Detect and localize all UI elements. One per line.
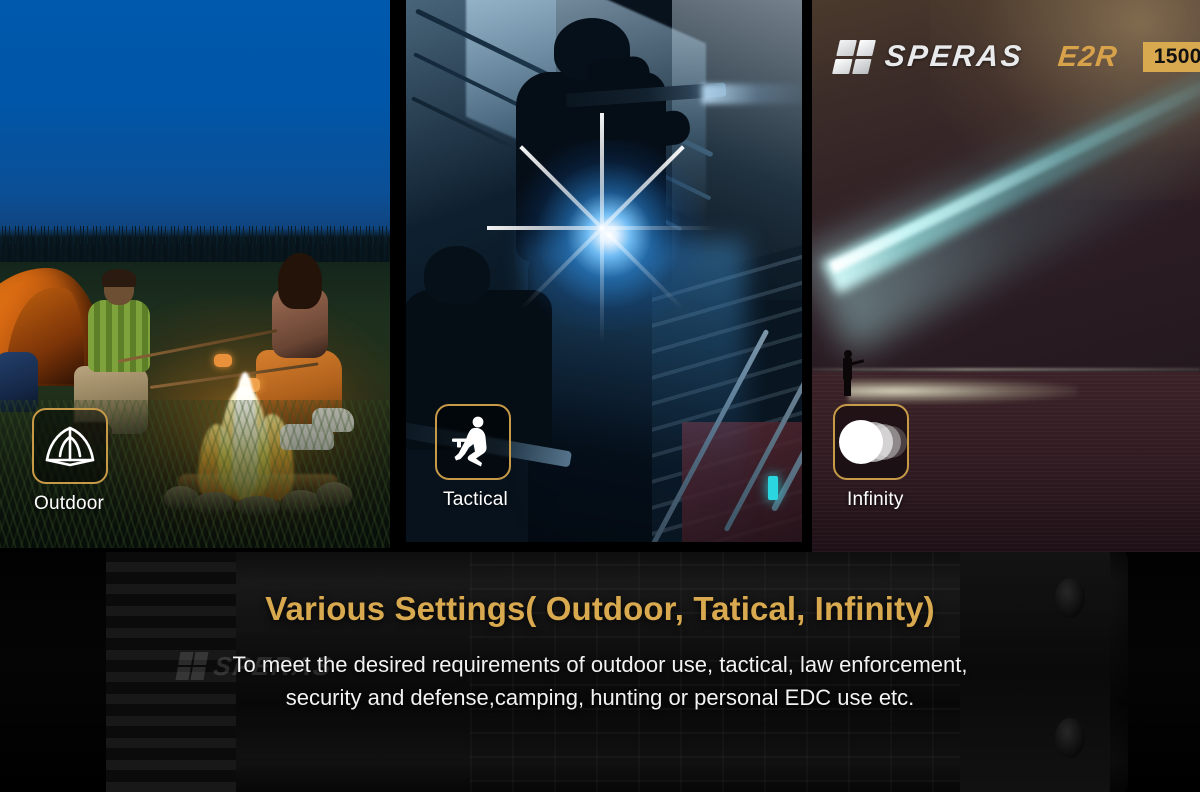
- rifle-light-flare: [702, 84, 802, 104]
- mode-badge-infinity[interactable]: Infinity: [833, 404, 909, 509]
- brand-lockup: SPERAS E2R 1500LM: [836, 40, 1200, 74]
- mode-badge-outdoor[interactable]: Outdoor: [32, 408, 108, 513]
- ground-spotlight: [848, 378, 1078, 404]
- product-model: E2R: [1057, 41, 1120, 74]
- soldier-crouching-icon[interactable]: [435, 404, 511, 480]
- beam-circle: [839, 420, 883, 464]
- caption-band: SPERAS Various Settings( Outdoor, Tatica…: [0, 552, 1200, 792]
- camper-right-hair: [278, 253, 322, 309]
- horizon-line: [812, 368, 1200, 371]
- photo-strip: SPERAS E2R 1500LM Outdoor Tac: [0, 0, 1200, 552]
- caption-heading: Various Settings( Outdoor, Tatical, Infi…: [0, 590, 1200, 628]
- person-legs: [844, 379, 851, 396]
- mode-label-outdoor: Outdoor: [34, 494, 108, 513]
- lumens-badge: 1500LM: [1143, 42, 1200, 72]
- speras-grid-logo-icon: [832, 40, 876, 74]
- caption-body: To meet the desired requirements of outd…: [0, 648, 1200, 715]
- person-body: [843, 357, 852, 381]
- mode-badge-tactical[interactable]: Tactical: [435, 404, 511, 509]
- caption-body-line-1: To meet the desired requirements of outd…: [0, 648, 1200, 681]
- brand-name: SPERAS: [883, 40, 1025, 74]
- soldier2-helmet: [424, 246, 490, 304]
- tent-icon[interactable]: [32, 408, 108, 484]
- beam-circles-icon[interactable]: [833, 404, 909, 480]
- twilight-sky: [0, 0, 390, 246]
- caption-body-line-2: security and defense,camping, hunting or…: [0, 681, 1200, 714]
- teal-indicator-light: [768, 476, 778, 500]
- caption-content: Various Settings( Outdoor, Tatical, Infi…: [0, 552, 1200, 792]
- person-with-flashlight: [842, 350, 854, 396]
- camper-left-hair: [102, 269, 136, 287]
- mode-label-infinity: Infinity: [847, 490, 909, 509]
- mode-label-tactical: Tactical: [443, 490, 511, 509]
- treetops: [0, 226, 390, 244]
